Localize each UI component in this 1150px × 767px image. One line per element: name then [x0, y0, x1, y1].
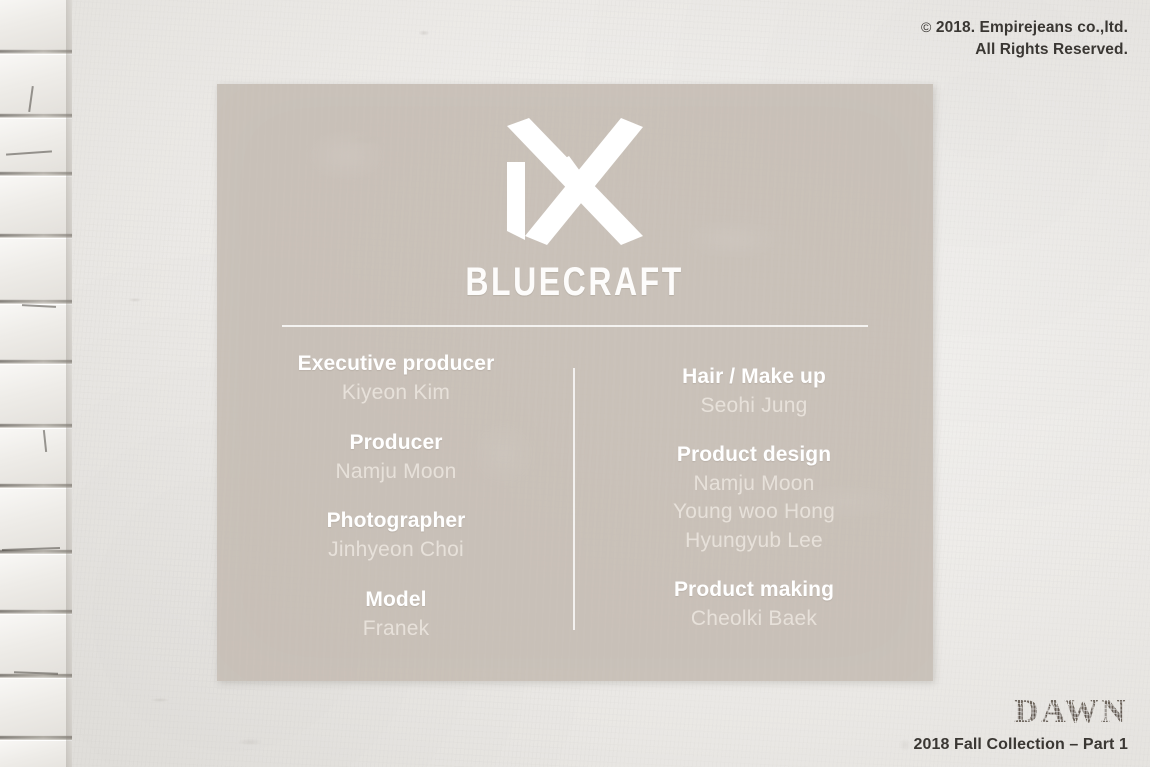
copyright-line-2: All Rights Reserved. [921, 39, 1128, 61]
credit-role: Product design [673, 441, 835, 470]
credit-role: Product making [674, 576, 834, 605]
credit-person: Namju Moon [673, 470, 835, 499]
credit-person: Young woo Hong [673, 498, 835, 527]
poster-canvas: © 2018. Empirejeans co.,ltd. All Rights … [0, 0, 1150, 767]
credit-person: Namju Moon [335, 458, 456, 487]
credit-person: Hyungyub Lee [673, 527, 835, 556]
horizontal-divider [282, 325, 868, 327]
credits-column-right: Hair / Make upSeohi JungProduct designNa… [575, 346, 933, 644]
credits-panel: BLUECRAFT Executive producerKiyeon KimPr… [217, 84, 933, 681]
credits-columns: Executive producerKiyeon KimProducerNamj… [217, 346, 933, 644]
collection-title: DAWN [913, 695, 1128, 729]
credits-column-left: Executive producerKiyeon KimProducerNamj… [217, 346, 575, 644]
credit-group: Executive producerKiyeon Kim [298, 350, 495, 408]
copyright-company: 2018. Empirejeans co.,ltd. [936, 19, 1128, 36]
brick-column [0, 0, 72, 767]
copyright-icon: © [921, 19, 931, 35]
brand-wordmark: BLUECRAFT [466, 262, 685, 302]
credit-person: Jinhyeon Choi [327, 536, 466, 565]
credit-role: Executive producer [298, 350, 495, 379]
credit-group: ModelFranek [363, 586, 430, 644]
credit-group: Hair / Make upSeohi Jung [682, 363, 826, 421]
bluecraft-vx-monogram-icon [499, 118, 651, 246]
credit-role: Photographer [327, 507, 466, 536]
brand-lockup: BLUECRAFT [217, 118, 933, 302]
credit-person: Seohi Jung [682, 392, 826, 421]
copyright-block: © 2018. Empirejeans co.,ltd. All Rights … [921, 17, 1128, 61]
credit-person: Franek [363, 615, 430, 644]
copyright-line-1: © 2018. Empirejeans co.,ltd. [921, 17, 1128, 39]
credit-role: Hair / Make up [682, 363, 826, 392]
collection-subtitle: 2018 Fall Collection – Part 1 [913, 737, 1128, 753]
credit-person: Cheolki Baek [674, 605, 834, 634]
credit-group: PhotographerJinhyeon Choi [327, 507, 466, 565]
credit-group: ProducerNamju Moon [335, 429, 456, 487]
collection-footer: DAWN 2018 Fall Collection – Part 1 [913, 695, 1128, 753]
credit-role: Producer [335, 429, 456, 458]
credit-person: Kiyeon Kim [298, 379, 495, 408]
credit-role: Model [363, 586, 430, 615]
credit-group: Product designNamju MoonYoung woo HongHy… [673, 441, 835, 556]
credit-group: Product makingCheolki Baek [674, 576, 834, 634]
